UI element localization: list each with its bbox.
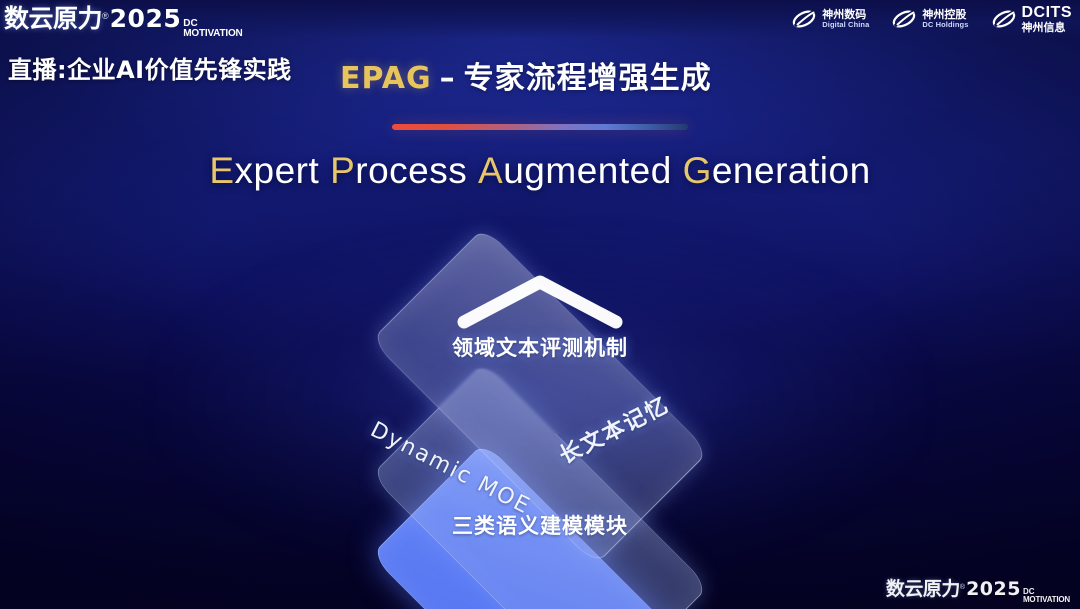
subtitle-rest-process: rocess [355,150,467,191]
subtitle-cap-p: P [330,150,355,191]
brand-dc-line1: DC [183,19,242,29]
swoosh-icon [891,8,917,30]
watermark-name-cn: 数云原力 [886,574,960,601]
partner-name-en: DCITS [1022,5,1073,22]
brand-dc-line2: MOTIVATION [183,29,242,39]
subtitle-cap-g: G [683,150,712,191]
gradient-divider [392,124,688,130]
watermark-dc-line2: MOTIVATION [1023,596,1070,604]
subtitle-rest-generation: eneration [712,150,871,191]
watermark-registered-mark: ® [960,584,965,591]
brand-name-cn: 数云原力 [4,0,102,35]
brand-registered-mark: ® [102,11,109,21]
partner-name-en: DC Holdings [922,21,968,29]
title-dash: – [440,61,456,96]
partner-name-cn: 神州信息 [1022,22,1073,34]
partner-logo-dc-holdings: 神州控股 DC Holdings [891,8,968,30]
live-stream-label: 直播:企业AI价值先锋实践 [8,50,292,85]
brand-year: 2025 [110,4,182,33]
partner-logo-digital-china: 神州数码 Digital China [791,8,869,30]
swoosh-icon [791,8,817,30]
subtitle-cap-a: A [478,150,503,191]
watermark-year: 2025 [966,578,1021,600]
brand-logo: 数云原力 ® 2025 DC MOTIVATION [4,0,243,40]
watermark-brand-logo: 数云原力 ® 2025 DC MOTIVATION [886,574,1070,605]
partner-text: DCITS 神州信息 [1022,5,1073,33]
partner-logo-dcits: DCITS 神州信息 [991,5,1073,33]
subtitle-cap-e: E [209,150,234,191]
page-title: EPAG–专家流程增强生成 [340,53,712,97]
swoosh-icon [991,8,1017,30]
slide-canvas: 数云原力 ® 2025 DC MOTIVATION 神州数码 Digital C… [0,0,1080,609]
partner-name-en: Digital China [822,21,869,29]
header-bar: 数云原力 ® 2025 DC MOTIVATION 神州数码 Digital C… [0,0,1080,38]
subtitle-rest-expert: xpert [235,150,320,191]
watermark-dc-motivation: DC MOTIVATION [1023,588,1070,604]
partner-logo-group: 神州数码 Digital China 神州控股 DC Holdings [791,5,1074,33]
title-acronym: EPAG [340,61,432,96]
subtitle-rest-augmented: ugmented [503,150,672,191]
brand-dc-motivation: DC MOTIVATION [183,19,242,39]
partner-text: 神州数码 Digital China [822,9,869,28]
subtitle-expansion: Expert Process Augmented Generation [0,150,1080,192]
partner-text: 神州控股 DC Holdings [922,9,968,28]
title-chinese: 专家流程增强生成 [464,61,712,96]
